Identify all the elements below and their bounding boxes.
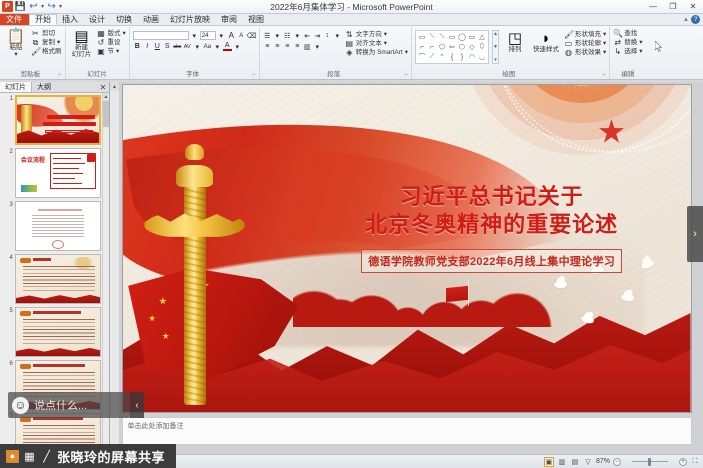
list-item[interactable]: 1 [8,95,101,145]
status-right[interactable]: ▣ ▥ ▤ ▽ 87% − + ⛶ [544,457,700,467]
paste-icon: 📋 [7,29,26,44]
paste-label: 粘贴 [10,44,23,51]
ribbon-tab-bar[interactable]: 文件 开始 插入 设计 切换 动画 幻灯片放映 审阅 视图 ▲ ? [0,14,703,26]
align-text-label: 对齐文本 [356,40,382,48]
replace-icon: ⇄ [613,39,622,47]
slide-stage: ▲ [110,82,703,454]
font-color-button[interactable]: A [223,42,232,51]
group-label-editing: 编辑 [613,71,642,79]
scrollbar-thumb[interactable] [103,101,109,127]
tab-outline[interactable]: 大纲 [32,82,56,92]
shape-fill-button[interactable]: 🖌 形状填充 ▾ [564,31,606,39]
slide-subtitle: 德语学院教师党支部2022年6月线上集中理论学习 [368,256,615,268]
quick-styles-label: 快速样式 [533,46,559,53]
thumbnail-slide-4[interactable] [15,254,101,304]
pencil-icon: ╱ [40,450,53,463]
emoji-icon[interactable]: ☺ [12,397,29,414]
shape-fill-icon: 🖌 [564,31,573,39]
arrange-icon: ◳ [508,31,522,46]
find-label: 查找 [624,30,637,38]
align-text-button[interactable]: ▤ 对齐文本 ▾ [345,40,408,48]
font-size-input[interactable]: 24 [200,31,216,40]
copy-button[interactable]: ⧉ 复制 ▾ [31,39,62,47]
font-name-input[interactable] [133,31,189,40]
shape-item[interactable]: ⌐ [427,42,437,52]
arrange-label: 排列 [508,46,521,53]
shape-item[interactable]: } [457,52,467,62]
justify-button[interactable]: ≡ [293,42,302,51]
shape-item[interactable]: △ [477,32,487,42]
slide-title-line-2: 北京冬奥精神的重要论述 [316,211,668,239]
notes-placeholder[interactable]: 单击此处添加备注 [122,417,692,445]
redo-icon[interactable]: ↪ [46,1,57,12]
view-slide-sorter-button[interactable]: ▥ [557,457,567,467]
line-spacing-dropdown-icon[interactable]: ▾ [333,31,342,40]
shapes-gallery[interactable]: ▭ ⟍ ⟍ ▭ ◯ ▭ △ ⌐ ⌐ ⬠ ⇦ ⬡ ◇ ⬯ ⌒ ⟋ ⌃ { } ◠ [415,30,489,64]
new-slide-button[interactable]: ▤ 新建 幻灯片 [69,28,95,58]
right-panel-expand-button[interactable]: › [687,206,703,262]
convert-to-smartart-button[interactable]: ◈ 转换为 SmartArt ▾ [345,49,408,57]
group-label-font: 字体 ⌐ [133,71,256,79]
change-case-button[interactable]: Aa [203,42,212,51]
small-flag-icon [446,286,468,302]
undo-icon[interactable]: ↩ [28,1,39,12]
group-label-slides: 幻灯片 [69,71,126,79]
tab-home[interactable]: 开始 [29,14,57,25]
gallery-scroll-down-icon[interactable]: ▼ [493,44,498,50]
change-case-dropdown-icon[interactable]: ▾ [213,42,222,51]
section-icon: ▣ [97,48,106,56]
zoom-out-button[interactable]: − [613,458,621,466]
share-label: 张晓玲的屏幕共享 [57,447,165,466]
group-drawing: ▭ ⟍ ⟍ ▭ ◯ ▭ △ ⌐ ⌐ ⬠ ⇦ ⬡ ◇ ⬯ ⌒ ⟋ ⌃ { } ◠ [412,27,610,79]
smartart-dropdown-icon[interactable]: ▾ [405,49,408,57]
zoom-level-label[interactable]: 87% [596,458,610,465]
chat-input-placeholder[interactable]: 说点什么... [34,397,87,413]
qat-customize-icon[interactable]: ▾ [59,3,62,10]
slide-number: 3 [8,201,13,208]
select-icon: ↳ [613,48,622,56]
slide-subtitle-box[interactable]: 德语学院教师党支部2022年6月线上集中理论学习 [361,249,622,273]
zoom-in-button[interactable]: + [679,458,687,466]
numbering-dropdown-icon[interactable]: ▾ [293,31,302,40]
slide-number: 6 [8,360,13,367]
shape-outline-icon: ▭ [564,40,573,48]
shape-item[interactable]: ▭ [417,32,427,42]
text-direction-label: 文字方向 [356,31,382,39]
align-center-button[interactable]: ≡ [273,42,282,51]
font-name-dropdown-icon[interactable]: ▾ [190,31,199,40]
quick-access-toolbar[interactable]: P 💾 ↩ ▾ ↪ ▾ [0,1,62,12]
shape-item[interactable]: ⌐ [417,42,427,52]
tab-design[interactable]: 设计 [84,14,111,25]
shape-fill-dropdown-icon[interactable]: ▾ [603,31,606,39]
mouse-cursor-icon [655,41,662,52]
chat-input-bar[interactable]: ☺ 说点什么... ‹ [8,392,130,418]
view-slideshow-button[interactable]: ▽ [583,457,593,467]
shape-item[interactable]: ⌒ [417,52,427,62]
font-dialog-launcher[interactable]: ⌐ [252,71,256,79]
tab-review[interactable]: 审阅 [216,14,243,25]
save-icon[interactable]: 💾 [15,1,26,12]
new-slide-icon: ▤ [74,29,88,44]
shapes-gallery-scrollbar[interactable]: ▲ ▼ ▾ [492,30,499,64]
layout-label: 版式 [108,30,121,38]
layout-button[interactable]: ▦ 版式 ▾ [97,30,126,38]
font-size-dropdown-icon[interactable]: ▾ [217,31,226,40]
char-spacing-dropdown-icon[interactable]: ▾ [193,42,202,51]
thumbnail-slide-2[interactable]: 会议流程 [15,148,101,198]
group-font: ▾ 24 ▾ A A ⌫ B I U S abc AV ▾ Aa ▾ A ▾ [130,27,260,79]
zoom-slider-handle[interactable] [648,458,651,466]
underline-button[interactable]: U [153,42,162,51]
section-button[interactable]: ▣ 节 ▾ [97,48,126,56]
select-button[interactable]: ↳ 选择 ▾ [613,48,642,56]
new-slide-label-2: 幻灯片 [72,51,92,58]
cut-icon: ✂ [31,30,40,38]
reset-label: 重设 [108,39,121,47]
copy-dropdown-icon[interactable]: ▾ [57,39,60,47]
layout-icon: ▦ [97,30,106,38]
shape-item[interactable]: ⟍ [437,32,447,42]
copy-label: 复制 [42,39,55,47]
chat-collapse-icon[interactable]: ‹ [130,392,144,418]
strikethrough-button[interactable]: abc [173,42,182,51]
list-item[interactable]: 2 会议流程 [8,148,101,198]
slide-number: 5 [8,307,13,314]
collapse-ribbon-icon[interactable]: ▲ [683,17,689,23]
numbering-button[interactable]: ☷ [283,31,292,40]
scroll-up-icon[interactable]: ▲ [103,93,109,101]
smartart-icon: ◈ [345,49,354,57]
shape-effects-button[interactable]: ◍ 形状效果 ▾ [564,49,606,57]
shape-item[interactable]: ⬡ [457,42,467,52]
gallery-more-icon[interactable]: ▾ [494,57,497,63]
screen-icon: ▦ [23,450,36,463]
group-paragraph: ☰ ▾ ☷ ▾ ⇤ ⇥ ↕ ▾ ≡ ≡ ≡ ≡ ▥ ▾ [260,27,412,79]
clear-formatting-icon[interactable]: ⌫ [247,31,256,40]
format-painter-label: 格式刷 [42,48,62,56]
slide-number: 4 [8,254,13,261]
select-dropdown-icon[interactable]: ▾ [639,48,642,56]
slide-title-line-1: 习近平总书记关于 [316,183,668,211]
ribbon-body: 📋 粘贴 ▾ ✂ 剪切 ⧉ 复制 ▾ 🖌 格式刷 [0,26,703,80]
list-item[interactable]: 3 [8,201,101,251]
character-spacing-button[interactable]: AV [183,42,192,51]
section-label: 节 [108,48,115,56]
minimize-button[interactable]: — [643,0,663,14]
window-title: 2022年6月集体学习 - Microsoft PowerPoint [0,1,703,13]
view-normal-button[interactable]: ▣ [544,457,554,467]
slide-canvas[interactable]: 习近平总书记关于 北京冬奥精神的重要论述 德语学院教师党支部2022年6月线上集… [122,84,692,413]
restore-button[interactable]: ❐ [663,0,683,14]
format-painter-button[interactable]: 🖌 格式刷 [31,48,62,56]
group-slides: ▤ 新建 幻灯片 ▦ 版式 ▾ ↺ 重设 ▣ 节 ▾ [66,27,130,79]
replace-label: 替换 [624,39,637,47]
reset-icon: ↺ [97,39,106,47]
window-controls[interactable]: — ❐ ✕ [643,0,703,14]
section-dropdown-icon[interactable]: ▾ [116,48,119,56]
slide-number: 2 [8,148,13,155]
thumbnail-slide-1[interactable] [15,95,101,145]
shape-item[interactable]: ▭ [467,32,477,42]
align-text-dropdown-icon[interactable]: ▾ [384,40,387,48]
align-text-icon: ▤ [345,40,354,48]
new-slide-label-1: 新建 [75,44,88,51]
shape-effects-icon: ◍ [564,49,573,57]
arrange-button[interactable]: ◳ 排列 [502,30,528,53]
undo-dropdown-icon[interactable]: ▾ [41,3,44,10]
shape-fill-label: 形状填充 [575,31,601,39]
paste-dropdown-icon[interactable]: ▾ [14,51,17,58]
columns-dropdown-icon[interactable]: ▾ [313,42,322,51]
text-direction-dropdown-icon[interactable]: ▾ [384,31,387,39]
search-icon: 🔍 [613,30,622,38]
bullets-dropdown-icon[interactable]: ▾ [273,31,282,40]
shape-item[interactable]: ⇦ [447,42,457,52]
shape-item[interactable]: { [447,52,457,62]
smartart-label: 转换为 SmartArt [356,49,403,57]
reset-button[interactable]: ↺ 重设 [97,39,126,47]
list-item[interactable]: 4 [8,254,101,304]
tab-animations[interactable]: 动画 [138,14,165,25]
text-shadow-button[interactable]: S [163,42,172,51]
shape-item[interactable]: ⟋ [427,52,437,62]
tab-slides[interactable]: 幻灯片 [0,82,32,92]
select-label: 选择 [624,48,637,56]
line-spacing-button[interactable]: ↕ [323,31,332,40]
align-right-button[interactable]: ≡ [283,42,292,51]
font-color-dropdown-icon[interactable]: ▾ [233,42,242,51]
copy-icon: ⧉ [31,39,40,47]
clipboard-dialog-launcher[interactable]: ⌐ [58,71,62,79]
shape-item[interactable]: ⬯ [477,42,487,52]
zoom-slider[interactable] [624,457,676,467]
quick-styles-icon: ◗ [541,31,550,46]
person-icon: ● [6,450,19,463]
format-painter-icon: 🖌 [31,48,40,56]
italic-button[interactable]: I [143,42,152,51]
tab-transitions[interactable]: 切换 [111,14,138,25]
increase-indent-button[interactable]: ⇥ [313,31,322,40]
text-direction-icon: ⇅ [345,31,354,39]
shape-item[interactable]: ▭ [447,32,457,42]
view-reading-button[interactable]: ▤ [570,457,580,467]
shape-outline-label: 形状轮廓 [575,40,601,48]
crowd-silhouette [293,275,554,327]
shape-item[interactable]: ◇ [467,42,477,52]
powerpoint-logo-icon: P [2,1,13,12]
thumbnail-pane-tabs[interactable]: 幻灯片 大纲 ✕ [0,82,109,93]
shrink-font-icon[interactable]: A [237,31,246,40]
paste-button[interactable]: 📋 粘贴 ▾ [3,28,29,58]
tab-view[interactable]: 视图 [243,14,270,25]
drawing-dialog-launcher[interactable]: ⌐ [603,71,607,79]
tab-insert[interactable]: 插入 [57,14,84,25]
shape-item[interactable]: ⌃ [437,52,447,62]
tab-file[interactable]: 文件 [0,14,29,25]
shape-item[interactable]: ◯ [457,32,467,42]
tab-slideshow[interactable]: 幻灯片放映 [165,14,216,25]
align-left-button[interactable]: ≡ [263,42,272,51]
thumbnail-slide-5[interactable] [15,307,101,357]
shape-effects-dropdown-icon[interactable]: ▾ [603,49,606,57]
group-label-paragraph: 段落 ⌐ [263,71,408,79]
columns-button[interactable]: ▥ [303,42,312,51]
find-button[interactable]: 🔍 查找 [613,30,642,38]
decrease-indent-button[interactable]: ⇤ [303,31,312,40]
text-direction-button[interactable]: ⇅ 文字方向 ▾ [345,31,408,39]
shape-outline-dropdown-icon[interactable]: ▾ [603,40,606,48]
shape-effects-label: 形状效果 [575,49,601,57]
slide-title-block[interactable]: 习近平总书记关于 北京冬奥精神的重要论述 德语学院教师党支部2022年6月线上集… [316,183,668,273]
gallery-scroll-up-icon[interactable]: ▲ [493,31,498,37]
list-item[interactable]: 5 [8,307,101,357]
replace-button[interactable]: ⇄ 替换 ▾ [613,39,642,47]
grow-font-icon[interactable]: A [227,31,236,40]
group-editing: 🔍 查找 ⇄ 替换 ▾ ↳ 选择 ▾ 编辑 [610,27,645,79]
group-label-drawing: 绘图 ⌐ [415,71,606,79]
shape-item[interactable]: ◠ [467,52,477,62]
help-icon[interactable]: ? [691,15,700,24]
close-pane-icon[interactable]: ✕ [97,82,109,92]
cut-label: 剪切 [42,30,55,38]
replace-dropdown-icon[interactable]: ▾ [639,39,642,47]
bullets-button[interactable]: ☰ [263,31,272,40]
cut-button[interactable]: ✂ 剪切 [31,30,62,38]
group-label-clipboard: 剪贴板 ⌐ [3,71,62,79]
layout-dropdown-icon[interactable]: ▾ [123,30,126,38]
quick-styles-button[interactable]: ◗ 快速样式 [531,30,561,53]
shape-outline-button[interactable]: ▭ 形状轮廓 ▾ [564,40,606,48]
stage-scroll-up-icon[interactable]: ▲ [110,82,119,91]
fit-to-window-button[interactable]: ⛶ [690,457,700,467]
thumbnail-heading: 会议流程 [21,155,45,164]
screen-share-banner: ● ▦ ╱ 张晓玲的屏幕共享 [0,444,176,468]
close-button[interactable]: ✕ [683,0,703,14]
slide-number: 1 [8,95,13,102]
thumbnail-slide-3[interactable] [15,201,101,251]
shape-item[interactable]: ⬠ [437,42,447,52]
shape-item[interactable]: ◡ [477,52,487,62]
bold-button[interactable]: B [133,42,142,51]
group-clipboard: 📋 粘贴 ▾ ✂ 剪切 ⧉ 复制 ▾ 🖌 格式刷 [0,27,66,79]
paragraph-dialog-launcher[interactable]: ⌐ [404,71,408,79]
shape-item[interactable]: ⟍ [427,32,437,42]
huabiao-pillar-graphic [157,144,233,406]
title-bar: P 💾 ↩ ▾ ↪ ▾ 2022年6月集体学习 - Microsoft Powe… [0,0,703,14]
